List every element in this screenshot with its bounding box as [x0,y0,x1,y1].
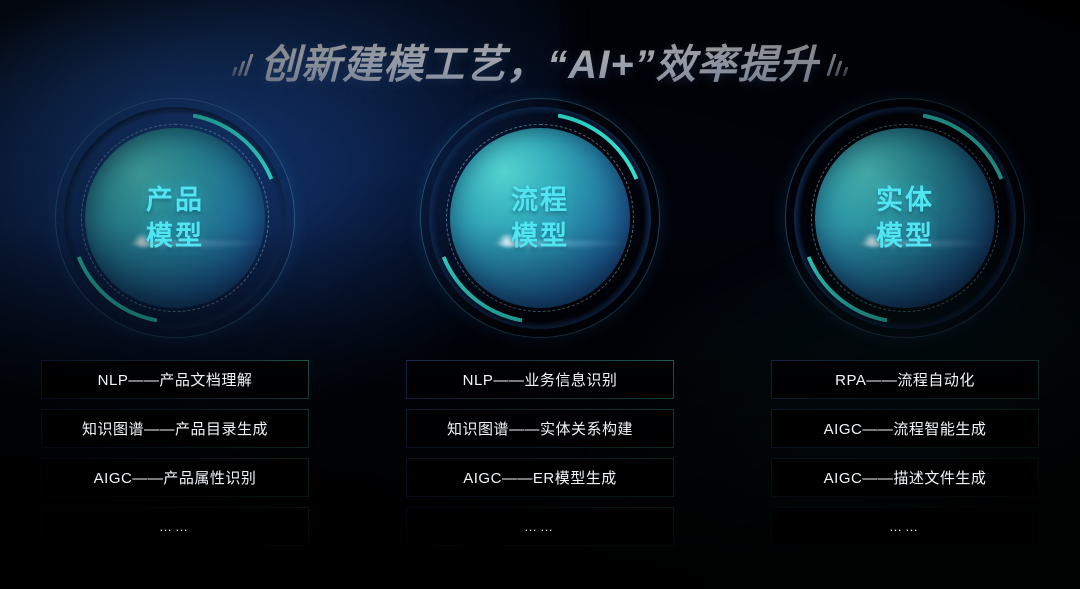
list-item-label: 知识图谱——产品目录生成 [82,418,268,439]
column-entity-model: 实体 模型 RPA——流程自动化 AIGC——流程智能生成 AIGC——描述文件… [760,98,1050,546]
item-list-product-model: NLP——产品文档理解 知识图谱——产品目录生成 AIGC——产品属性识别 …… [41,360,309,546]
column-process-model: 流程 模型 NLP——业务信息识别 知识图谱——实体关系构建 AIGC——ER模… [395,98,685,546]
item-list-entity-model: RPA——流程自动化 AIGC——流程智能生成 AIGC——描述文件生成 …… [771,360,1039,546]
page-title: 创新建模工艺，“AI+”效率提升 [260,32,819,90]
list-item-label: AIGC——描述文件生成 [824,467,987,488]
list-item[interactable]: 知识图谱——实体关系构建 [406,409,674,448]
slide-root: 创新建模工艺，“AI+”效率提升 产品 模型 [0,0,1080,589]
list-item[interactable]: NLP——业务信息识别 [406,360,674,399]
list-item[interactable]: AIGC——流程智能生成 [771,409,1039,448]
list-item-label: NLP——产品文档理解 [98,369,253,390]
list-item-label: RPA——流程自动化 [835,369,975,390]
orb-process-model[interactable]: 流程 模型 [420,98,660,338]
list-item[interactable]: 知识图谱——产品目录生成 [41,409,309,448]
list-item-label: NLP——业务信息识别 [463,369,618,390]
model-columns: 产品 模型 NLP——产品文档理解 知识图谱——产品目录生成 AIGC——产品属… [0,98,1080,546]
list-item-more[interactable]: …… [41,507,309,546]
orb-inner-disc: 实体 模型 [815,128,995,308]
list-item-label: AIGC——流程智能生成 [824,418,987,439]
list-item-more[interactable]: …… [406,507,674,546]
orb-inner-disc: 流程 模型 [450,128,630,308]
tick-marks-right-icon [830,46,847,76]
title-bar: 创新建模工艺，“AI+”效率提升 [0,30,1080,92]
list-item[interactable]: AIGC——ER模型生成 [406,458,674,497]
orb-entity-model[interactable]: 实体 模型 [785,98,1025,338]
list-item[interactable]: AIGC——产品属性识别 [41,458,309,497]
item-list-process-model: NLP——业务信息识别 知识图谱——实体关系构建 AIGC——ER模型生成 …… [406,360,674,546]
orb-inner-disc: 产品 模型 [85,128,265,308]
list-item[interactable]: RPA——流程自动化 [771,360,1039,399]
list-item-label: 知识图谱——实体关系构建 [447,418,633,439]
orb-product-model[interactable]: 产品 模型 [55,98,295,338]
tick-marks-left-icon [233,46,250,76]
orb-label: 实体 模型 [876,182,934,255]
column-product-model: 产品 模型 NLP——产品文档理解 知识图谱——产品目录生成 AIGC——产品属… [30,98,320,546]
list-item[interactable]: NLP——产品文档理解 [41,360,309,399]
orb-label: 产品 模型 [146,182,204,255]
list-item-label: AIGC——ER模型生成 [463,467,617,488]
list-item-label: …… [159,519,191,534]
list-item[interactable]: AIGC——描述文件生成 [771,458,1039,497]
list-item-label: …… [889,519,921,534]
list-item-label: AIGC——产品属性识别 [94,467,257,488]
orb-label: 流程 模型 [511,182,569,255]
list-item-label: …… [524,519,556,534]
list-item-more[interactable]: …… [771,507,1039,546]
